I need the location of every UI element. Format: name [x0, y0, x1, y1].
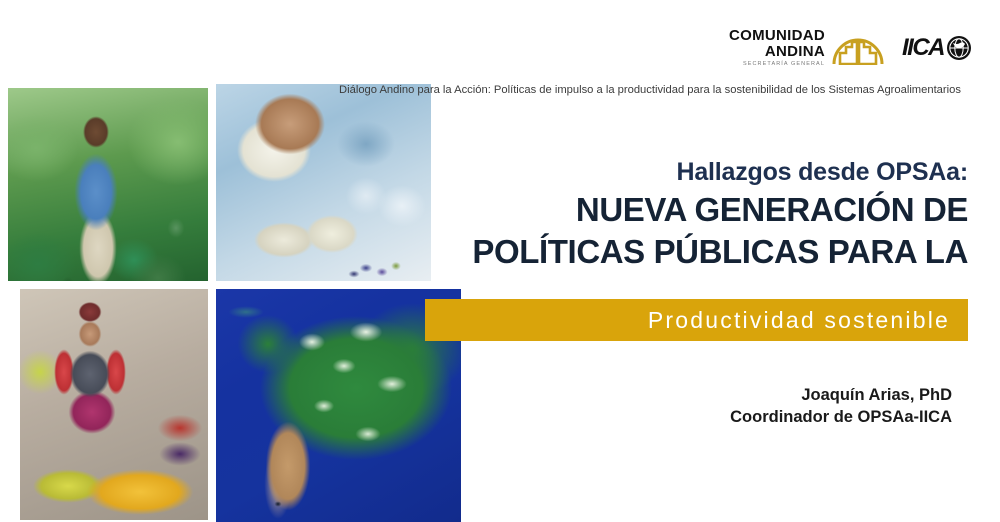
title-block: Hallazgos desde OPSAa: NUEVA GENERACIÓN …: [368, 158, 968, 271]
presentation-slide: COMUNIDAD ANDINA SECRETARÍA GENERAL IICA…: [0, 0, 1000, 522]
logo-can-line3: SECRETARÍA GENERAL: [729, 62, 825, 68]
author-name: Joaquín Arias, PhD: [730, 384, 952, 406]
logo-can-line1: COMUNIDAD: [729, 28, 825, 44]
collage-horizontal-seam: [0, 281, 465, 289]
logo-iica: IICA: [902, 34, 972, 62]
title-kicker: Hallazgos desde OPSAa:: [368, 158, 968, 187]
gold-banner-text: Productividad sostenible: [648, 307, 968, 334]
logo-bar: COMUNIDAD ANDINA SECRETARÍA GENERAL IICA: [729, 28, 972, 67]
globe-icon: [946, 35, 972, 61]
collage-vertical-seam: [208, 84, 216, 522]
logo-comunidad-andina-text: COMUNIDAD ANDINA SECRETARÍA GENERAL: [729, 28, 825, 67]
event-subtitle: Diálogo Andino para la Acción: Políticas…: [330, 84, 970, 96]
author-role: Coordinador de OPSAa-IICA: [730, 406, 952, 428]
andean-arch-icon: [832, 31, 884, 65]
photo-farmer: [8, 88, 208, 281]
gold-banner: Productividad sostenible: [425, 299, 968, 341]
author-block: Joaquín Arias, PhD Coordinador de OPSAa-…: [730, 384, 952, 429]
photo-market-image: [20, 288, 208, 520]
logo-comunidad-andina: COMUNIDAD ANDINA SECRETARÍA GENERAL: [729, 28, 884, 67]
photo-market: [20, 288, 208, 520]
logo-iica-wordmark: IICA: [902, 34, 944, 62]
title-line-2: POLÍTICAS PÚBLICAS PARA LA: [368, 233, 968, 271]
photo-farmer-image: [8, 88, 208, 281]
title-line-1: NUEVA GENERACIÓN DE: [368, 191, 968, 229]
logo-can-line2: ANDINA: [729, 44, 825, 60]
